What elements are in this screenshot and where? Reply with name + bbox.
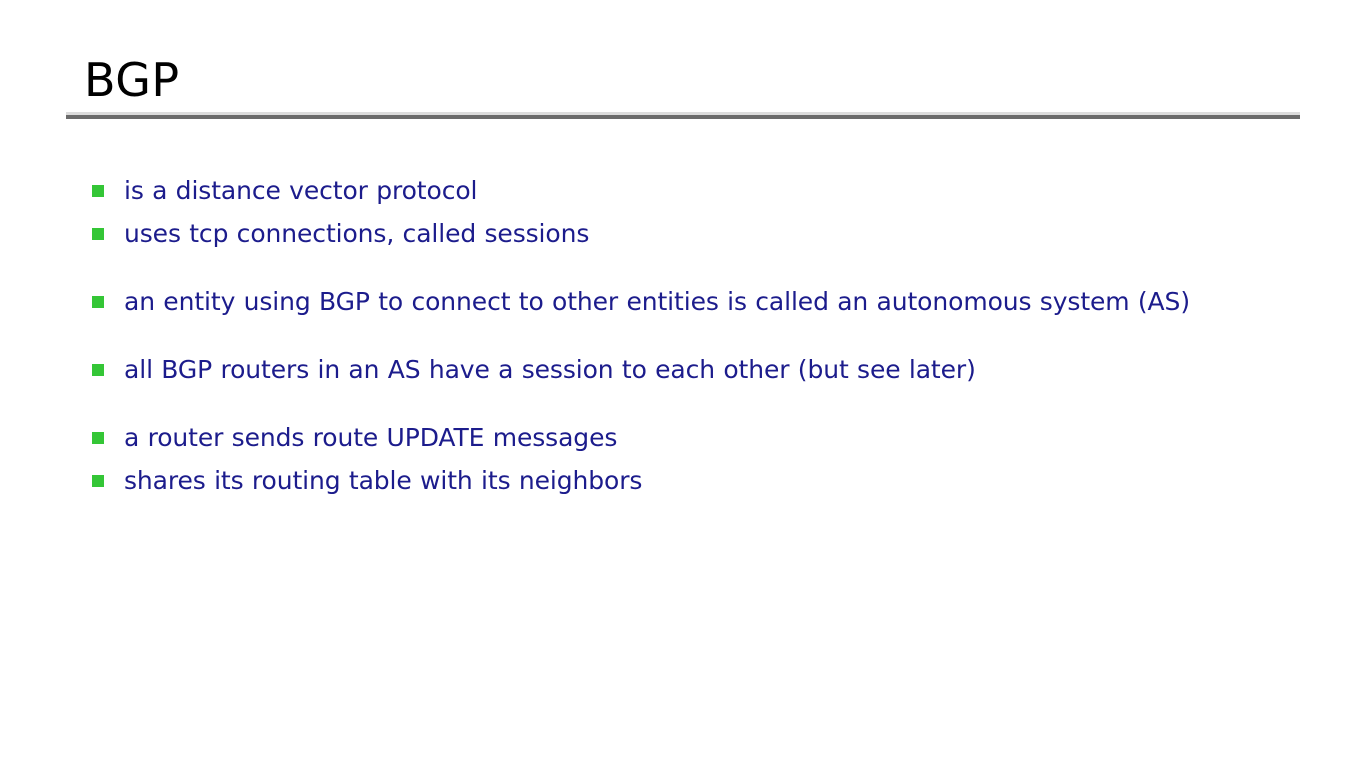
square-bullet-icon xyxy=(92,228,104,240)
slide: BGP is a distance vector protocol uses t… xyxy=(0,0,1366,768)
list-item-label: a router sends route UPDATE messages xyxy=(124,419,1272,457)
square-bullet-icon xyxy=(92,185,104,197)
square-bullet-icon xyxy=(92,432,104,444)
bullet-group: is a distance vector protocol uses tcp c… xyxy=(92,172,1272,253)
bullet-group: a router sends route UPDATE messages sha… xyxy=(92,419,1272,500)
square-bullet-icon xyxy=(92,364,104,376)
title-divider xyxy=(66,112,1300,119)
list-item: uses tcp connections, called sessions xyxy=(92,215,1272,253)
list-item: a router sends route UPDATE messages xyxy=(92,419,1272,457)
square-bullet-icon xyxy=(92,475,104,487)
slide-title-area: BGP xyxy=(66,52,1300,124)
list-item: an entity using BGP to connect to other … xyxy=(92,283,1272,321)
list-item-label: shares its routing table with its neighb… xyxy=(124,462,1272,500)
bullet-group: all BGP routers in an AS have a session … xyxy=(92,351,1272,389)
list-item-label: uses tcp connections, called sessions xyxy=(124,215,1272,253)
list-item-label: is a distance vector protocol xyxy=(124,172,1272,210)
list-item-label: an entity using BGP to connect to other … xyxy=(124,283,1272,321)
list-item: all BGP routers in an AS have a session … xyxy=(92,351,1272,389)
list-item-label: all BGP routers in an AS have a session … xyxy=(124,351,1272,389)
title-divider-shadow xyxy=(66,115,1300,119)
square-bullet-icon xyxy=(92,296,104,308)
page-title: BGP xyxy=(84,52,180,108)
bullet-group: an entity using BGP to connect to other … xyxy=(92,283,1272,321)
slide-body: is a distance vector protocol uses tcp c… xyxy=(92,172,1272,500)
list-item: shares its routing table with its neighb… xyxy=(92,462,1272,500)
list-item: is a distance vector protocol xyxy=(92,172,1272,210)
